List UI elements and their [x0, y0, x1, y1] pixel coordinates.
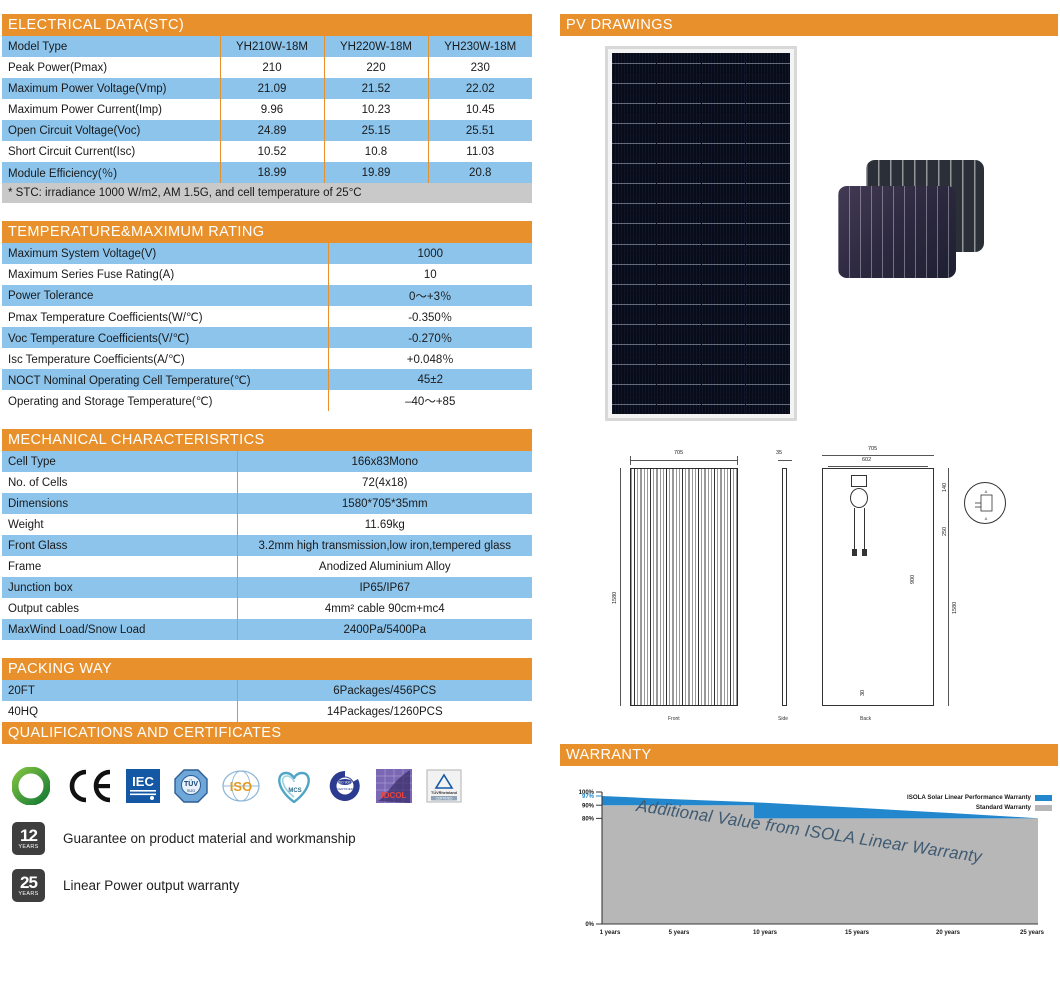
- temperature-rating-table: Maximum System Voltage(V) 1000 Maximum S…: [2, 243, 532, 411]
- dim-line-back-outer: [822, 455, 934, 456]
- xtick-20: 20 years: [936, 930, 961, 936]
- tuv-rheinland-logo-icon: TÜVRheinland CERTIFIED: [426, 769, 462, 803]
- table-row: Frame Anodized Aluminium Alloy: [2, 556, 532, 577]
- table-row: Module Efficiency(％) 18.99 19.89 20.8: [2, 162, 532, 183]
- row-value: 4mm² cable 90cm+mc4: [237, 598, 532, 619]
- row-label: Maximum Power Current(Imp): [2, 99, 220, 120]
- row-value: 6Packages/456PCS: [237, 680, 532, 701]
- section-header-warranty: WARRANTY: [560, 744, 1058, 766]
- section-header-pv-drawings: PV DRAWINGS: [560, 14, 1058, 36]
- badge-year-unit: YEARS: [18, 892, 38, 898]
- row-value: 166x83Mono: [237, 451, 532, 472]
- warranty-text-12: Guarantee on product material and workma…: [63, 831, 356, 846]
- back-view-drawing: [822, 468, 934, 706]
- table-row: 20FT 6Packages/456PCS: [2, 680, 532, 701]
- table-row: Maximum System Voltage(V) 1000: [2, 243, 532, 264]
- dim-line-back-inner: [828, 466, 928, 467]
- row-label: Open Circuit Voltage(Voc): [2, 120, 220, 141]
- row-label: Short Circuit Current(Isc): [2, 141, 220, 162]
- panel-cell-grid: [612, 53, 790, 414]
- row-value: 10.23: [324, 99, 428, 120]
- row-label: Operating and Storage Temperature(℃): [2, 390, 328, 411]
- table-row: Pmax Temperature Coefficients(W/℃) -0.35…: [2, 306, 532, 327]
- row-label: Voc Temperature Coefficients(V/℃): [2, 327, 328, 348]
- electrical-data-table: Model Type YH210W-18M YH220W-18M YH230W-…: [2, 36, 532, 203]
- table-row: Maximum Series Fuse Rating(A) 10: [2, 264, 532, 285]
- legend-label-isola: ISOLA Solar Linear Performance Warranty: [907, 794, 1031, 801]
- idcol-logo-icon: IDCOL: [376, 769, 412, 803]
- table-row: Open Circuit Voltage(Voc) 24.89 25.15 25…: [2, 120, 532, 141]
- legend-swatch-isola: [1035, 795, 1052, 801]
- spacer: [2, 203, 532, 221]
- row-value: 19.89: [324, 162, 428, 183]
- pv-photo-area: [560, 40, 1058, 440]
- ce-mark-icon: [64, 769, 112, 803]
- section-header-electrical: ELECTRICAL DATA(STC): [2, 14, 532, 36]
- row-label: Frame: [2, 556, 237, 577]
- warranty-chart: 100% 97% 90% 80% 0% 1 years 5 years 10 y…: [560, 772, 1058, 952]
- row-value: 210: [220, 57, 324, 78]
- svg-text:A: A: [985, 489, 988, 494]
- row-value: 24.89: [220, 120, 324, 141]
- row-value: 0～+3％: [328, 285, 532, 306]
- row-value: Anodized Aluminium Alloy: [237, 556, 532, 577]
- table-row: Short Circuit Current(Isc) 10.52 10.8 11…: [2, 141, 532, 162]
- dim-line-side-top: [778, 460, 792, 461]
- table-row: Power Tolerance 0～+3％: [2, 285, 532, 306]
- cable-left: [854, 508, 855, 550]
- row-value: 18.99: [220, 162, 324, 183]
- cqc-logo-icon: ISO 9001 CERTIFIED: [328, 769, 362, 803]
- xtick-5: 5 years: [669, 930, 690, 936]
- row-label: Isc Temperature Coefficients(A/℃): [2, 348, 328, 369]
- dim-back-inner-width: 602: [862, 457, 871, 463]
- row-value: 10.8: [324, 141, 428, 162]
- legend-swatch-standard: [1035, 805, 1052, 811]
- legend-item-isola: ISOLA Solar Linear Performance Warranty: [907, 794, 1052, 801]
- row-label: MaxWind Load/Snow Load: [2, 619, 237, 640]
- warranty-text-25: Linear Power output warranty: [63, 878, 239, 893]
- section-header-mechanical: MECHANICAL CHARACTERISRTICS: [2, 429, 532, 451]
- table-row: Dimensions 1580*705*35mm: [2, 493, 532, 514]
- ytick-80: 80%: [582, 817, 595, 823]
- table-row: Front Glass 3.2mm high transmission,low …: [2, 535, 532, 556]
- green-ring-icon: [12, 767, 50, 805]
- row-value: IP65/IP67: [237, 577, 532, 598]
- svg-text:A: A: [985, 516, 988, 521]
- xtick-10: 10 years: [753, 930, 778, 936]
- chart-legend: ISOLA Solar Linear Performance Warranty …: [907, 794, 1052, 814]
- row-label: NOCT Nominal Operating Cell Temperature(…: [2, 369, 328, 390]
- row-value: 2400Pa/5400Pa: [237, 619, 532, 640]
- ytick-97: 97%: [582, 794, 595, 800]
- model-name-2: YH220W-18M: [324, 36, 428, 57]
- row-label: Maximum Power Voltage(Vmp): [2, 78, 220, 99]
- table-row: Weight 11.69kg: [2, 514, 532, 535]
- section-header-temperature: TEMPERATURE&MAXIMUM RATING: [2, 221, 532, 243]
- svg-text:TÜVRheinland: TÜVRheinland: [431, 790, 458, 795]
- table-row: Model Type YH210W-18M YH220W-18M YH230W-…: [2, 36, 532, 57]
- svg-text:ISO 9001: ISO 9001: [338, 781, 352, 785]
- side-view-label: Side: [778, 716, 788, 722]
- mcs-logo-icon: MCS: [274, 769, 314, 803]
- row-value: 21.52: [324, 78, 428, 99]
- svg-text:IEC: IEC: [132, 774, 154, 789]
- section-header-packing: PACKING WAY: [2, 658, 532, 680]
- legend-label-standard: Standard Warranty: [976, 804, 1031, 811]
- row-value: 14Packages/1260PCS: [237, 701, 532, 722]
- row-value: 25.15: [324, 120, 428, 141]
- table-row: Operating and Storage Temperature(℃) –40…: [2, 390, 532, 411]
- row-value: 230: [428, 57, 532, 78]
- row-value: 10.45: [428, 99, 532, 120]
- svg-text:IDCOL: IDCOL: [382, 791, 407, 800]
- dim-thickness: 35: [776, 450, 782, 456]
- table-row: Junction box IP65/IP67: [2, 577, 532, 598]
- tuv-logo-icon: TÜV SÜD: [174, 769, 208, 803]
- spacer: [2, 640, 532, 658]
- row-value: 220: [324, 57, 428, 78]
- dim-line-back-right: [948, 468, 949, 706]
- dim-line-front-top: [630, 460, 738, 461]
- stc-note: * STC: irradiance 1000 W/m2, AM 1.5G, an…: [2, 183, 532, 203]
- row-value: -0.350％: [328, 306, 532, 327]
- cable-right: [864, 508, 865, 550]
- row-label: Junction box: [2, 577, 237, 598]
- row-label: Cell Type: [2, 451, 237, 472]
- spacer: [2, 411, 532, 429]
- xtick-25: 25 years: [1020, 930, 1045, 936]
- row-label: Pmax Temperature Coefficients(W/℃): [2, 306, 328, 327]
- xtick-1: 1 years: [600, 930, 621, 936]
- table-row: Maximum Power Voltage(Vmp) 21.09 21.52 2…: [2, 78, 532, 99]
- table-row: Voc Temperature Coefficients(V/℃) -0.270…: [2, 327, 532, 348]
- row-label: Peak Power(Pmax): [2, 57, 220, 78]
- dim-tick: [737, 456, 738, 465]
- table-row: Peak Power(Pmax) 210 220 230: [2, 57, 532, 78]
- row-value: –40～+85: [328, 390, 532, 411]
- right-column: PV DRAWINGS: [560, 14, 1058, 952]
- junction-box-symbol: [851, 475, 867, 487]
- ytick-90: 90%: [582, 803, 595, 809]
- row-label: Front Glass: [2, 535, 237, 556]
- solar-cell-front: [838, 186, 956, 278]
- row-value: 3.2mm high transmission,low iron,tempere…: [237, 535, 532, 556]
- row-value: 1000: [328, 243, 532, 264]
- row-label: Output cables: [2, 598, 237, 619]
- front-view-drawing: [630, 468, 738, 706]
- connector-left: [852, 549, 857, 556]
- technical-drawings: 705 Front 1580 35 Side 705 602: [560, 444, 1058, 744]
- svg-text:ISO: ISO: [230, 779, 252, 794]
- badge-25-years: 25 YEARS: [12, 869, 45, 902]
- warranty-item-12-years: 12 YEARS Guarantee on product material a…: [2, 814, 532, 855]
- dim-back-height: 1580: [952, 602, 958, 614]
- badge-12-years: 12 YEARS: [12, 822, 45, 855]
- svg-text:MCS: MCS: [288, 788, 301, 794]
- model-name-1: YH210W-18M: [220, 36, 324, 57]
- row-label: 20FT: [2, 680, 237, 701]
- table-row: Isc Temperature Coefficients(A/℃) +0.048…: [2, 348, 532, 369]
- mechanical-characteristics-table: Cell Type 166x83Mono No. of Cells 72(4x1…: [2, 451, 532, 640]
- row-value: 22.02: [428, 78, 532, 99]
- iso-logo-icon: ISO: [222, 769, 260, 803]
- connector-right: [862, 549, 867, 556]
- row-value: 10: [328, 264, 532, 285]
- row-value: 1580*705*35mm: [237, 493, 532, 514]
- row-value: +0.048％: [328, 348, 532, 369]
- iec-logo-icon: IEC: [126, 769, 160, 803]
- section-header-qualifications: QUALIFICATIONS AND CERTIFICATES: [2, 722, 532, 744]
- stc-note-row: * STC: irradiance 1000 W/m2, AM 1.5G, an…: [2, 183, 532, 203]
- dim-back-width: 705: [868, 446, 877, 452]
- badge-year-number: 12: [20, 827, 37, 844]
- ytick-0: 0%: [585, 922, 594, 928]
- side-view-drawing: [782, 468, 787, 706]
- table-row: Maximum Power Current(Imp) 9.96 10.23 10…: [2, 99, 532, 120]
- row-label: Maximum Series Fuse Rating(A): [2, 264, 328, 285]
- row-value: 9.96: [220, 99, 324, 120]
- row-label: Power Tolerance: [2, 285, 328, 306]
- dim-bottom-offset: 30: [860, 690, 866, 696]
- svg-text:SÜD: SÜD: [187, 788, 196, 793]
- svg-text:CERTIFIED: CERTIFIED: [436, 796, 453, 800]
- back-view-label: Back: [860, 716, 871, 722]
- dim-cable-length: 900: [910, 575, 916, 584]
- table-row: Cell Type 166x83Mono: [2, 451, 532, 472]
- table-row: No. of Cells 72(4x18): [2, 472, 532, 493]
- electrical-header-label: Model Type: [2, 36, 220, 57]
- svg-text:TÜV: TÜV: [184, 779, 198, 788]
- row-value: 25.51: [428, 120, 532, 141]
- row-value: 10.52: [220, 141, 324, 162]
- certificate-logo-row: IEC TÜV SÜD ISO: [2, 744, 532, 814]
- model-name-3: YH230W-18M: [428, 36, 532, 57]
- front-view-label: Front: [668, 716, 680, 722]
- row-value: 11.03: [428, 141, 532, 162]
- row-label: Weight: [2, 514, 237, 535]
- legend-item-standard: Standard Warranty: [907, 804, 1052, 811]
- badge-year-unit: YEARS: [18, 845, 38, 851]
- row-value: 72(4x18): [237, 472, 532, 493]
- dim-front-height: 1580: [612, 592, 618, 604]
- svg-text:CERTIFIED: CERTIFIED: [337, 787, 354, 791]
- xtick-15: 15 years: [845, 930, 870, 936]
- row-label: No. of Cells: [2, 472, 237, 493]
- dim-tick: [630, 456, 631, 465]
- warranty-item-25-years: 25 YEARS Linear Power output warranty: [2, 855, 532, 902]
- row-label: Dimensions: [2, 493, 237, 514]
- table-row: MaxWind Load/Snow Load 2400Pa/5400Pa: [2, 619, 532, 640]
- left-column: ELECTRICAL DATA(STC) Model Type YH210W-1…: [2, 14, 532, 902]
- row-label: 40HQ: [2, 701, 237, 722]
- junction-box-body: [850, 488, 868, 508]
- badge-year-number: 25: [20, 874, 37, 891]
- table-row: 40HQ 14Packages/1260PCS: [2, 701, 532, 722]
- detail-view-circle: A A: [964, 482, 1006, 524]
- row-value: 20.8: [428, 162, 532, 183]
- row-label: Module Efficiency(％): [2, 162, 220, 183]
- dim-front-width: 705: [674, 450, 683, 456]
- table-row: Output cables 4mm² cable 90cm+mc4: [2, 598, 532, 619]
- solar-panel-photo: [605, 46, 797, 421]
- row-value: 11.69kg: [237, 514, 532, 535]
- datasheet-page: ELECTRICAL DATA(STC) Model Type YH210W-1…: [0, 0, 1060, 999]
- packing-way-table: 20FT 6Packages/456PCS 40HQ 14Packages/12…: [2, 680, 532, 722]
- row-label: Maximum System Voltage(V): [2, 243, 328, 264]
- row-value: -0.270％: [328, 327, 532, 348]
- solar-cells-photo: [838, 160, 998, 280]
- table-row: NOCT Nominal Operating Cell Temperature(…: [2, 369, 532, 390]
- dim-line-front-left: [620, 468, 621, 706]
- row-value: 45±2: [328, 369, 532, 390]
- row-value: 21.09: [220, 78, 324, 99]
